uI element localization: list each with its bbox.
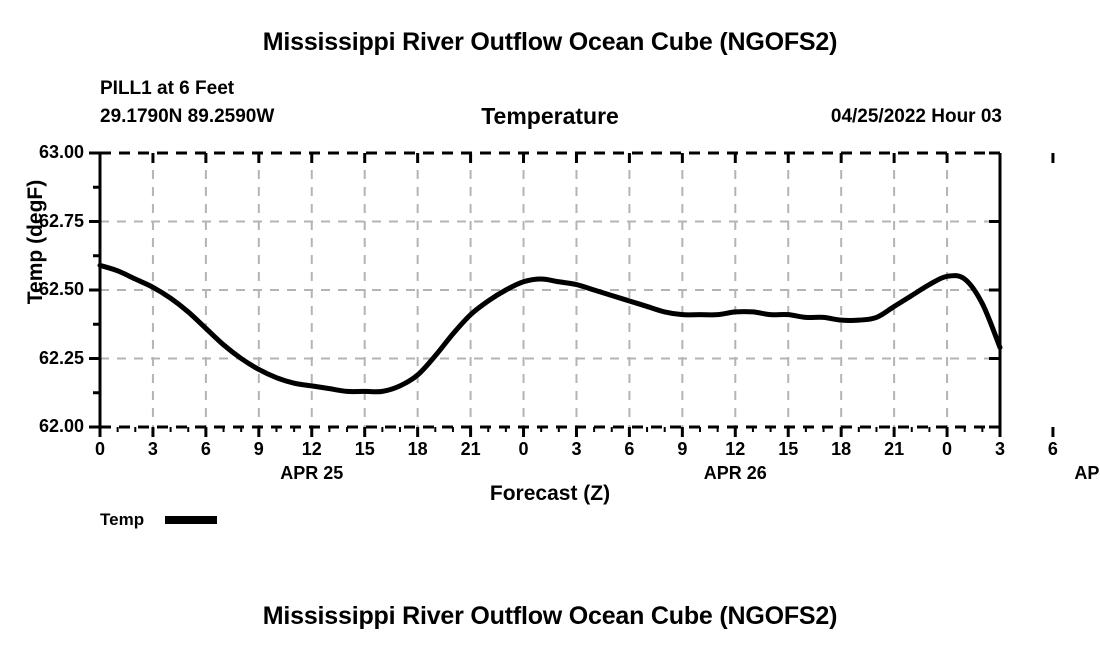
x-tick-label: 0: [927, 439, 967, 460]
x-tick-label: 3: [980, 439, 1020, 460]
x-tick-label: 6: [186, 439, 226, 460]
plot-canvas: [0, 0, 1100, 650]
x-tick-label: 3: [556, 439, 596, 460]
x-tick-label: 6: [1033, 439, 1073, 460]
y-tick-label: 62.50: [4, 279, 84, 300]
x-tick-label: 9: [239, 439, 279, 460]
day-label: APR 25: [252, 463, 372, 484]
y-tick-label: 62.00: [4, 416, 84, 437]
legend-label: Temp: [100, 510, 144, 530]
day-label: APR 27: [1046, 463, 1100, 484]
page-title-bottom: Mississippi River Outflow Ocean Cube (NG…: [0, 602, 1100, 631]
y-tick-label: 62.75: [4, 211, 84, 232]
chart-figure: Mississippi River Outflow Ocean Cube (NG…: [0, 0, 1100, 650]
data-series-layer: [100, 265, 1000, 391]
x-tick-label: 6: [609, 439, 649, 460]
legend-line-swatch: [165, 516, 217, 524]
x-tick-label: 0: [504, 439, 544, 460]
x-tick-label: 12: [715, 439, 755, 460]
x-tick-label: 12: [292, 439, 332, 460]
x-tick-label: 18: [398, 439, 438, 460]
y-tick-label: 63.00: [4, 142, 84, 163]
day-label: APR 26: [675, 463, 795, 484]
x-tick-label: 3: [133, 439, 173, 460]
series-line-temp: [100, 265, 1000, 391]
x-tick-label: 15: [768, 439, 808, 460]
x-tick-label: 9: [662, 439, 702, 460]
y-tick-label: 62.25: [4, 348, 84, 369]
gridlines: [100, 153, 1000, 427]
x-tick-label: 21: [874, 439, 914, 460]
x-tick-label: 15: [345, 439, 385, 460]
x-tick-label: 21: [451, 439, 491, 460]
x-tick-label: 0: [80, 439, 120, 460]
x-tick-label: 18: [821, 439, 861, 460]
